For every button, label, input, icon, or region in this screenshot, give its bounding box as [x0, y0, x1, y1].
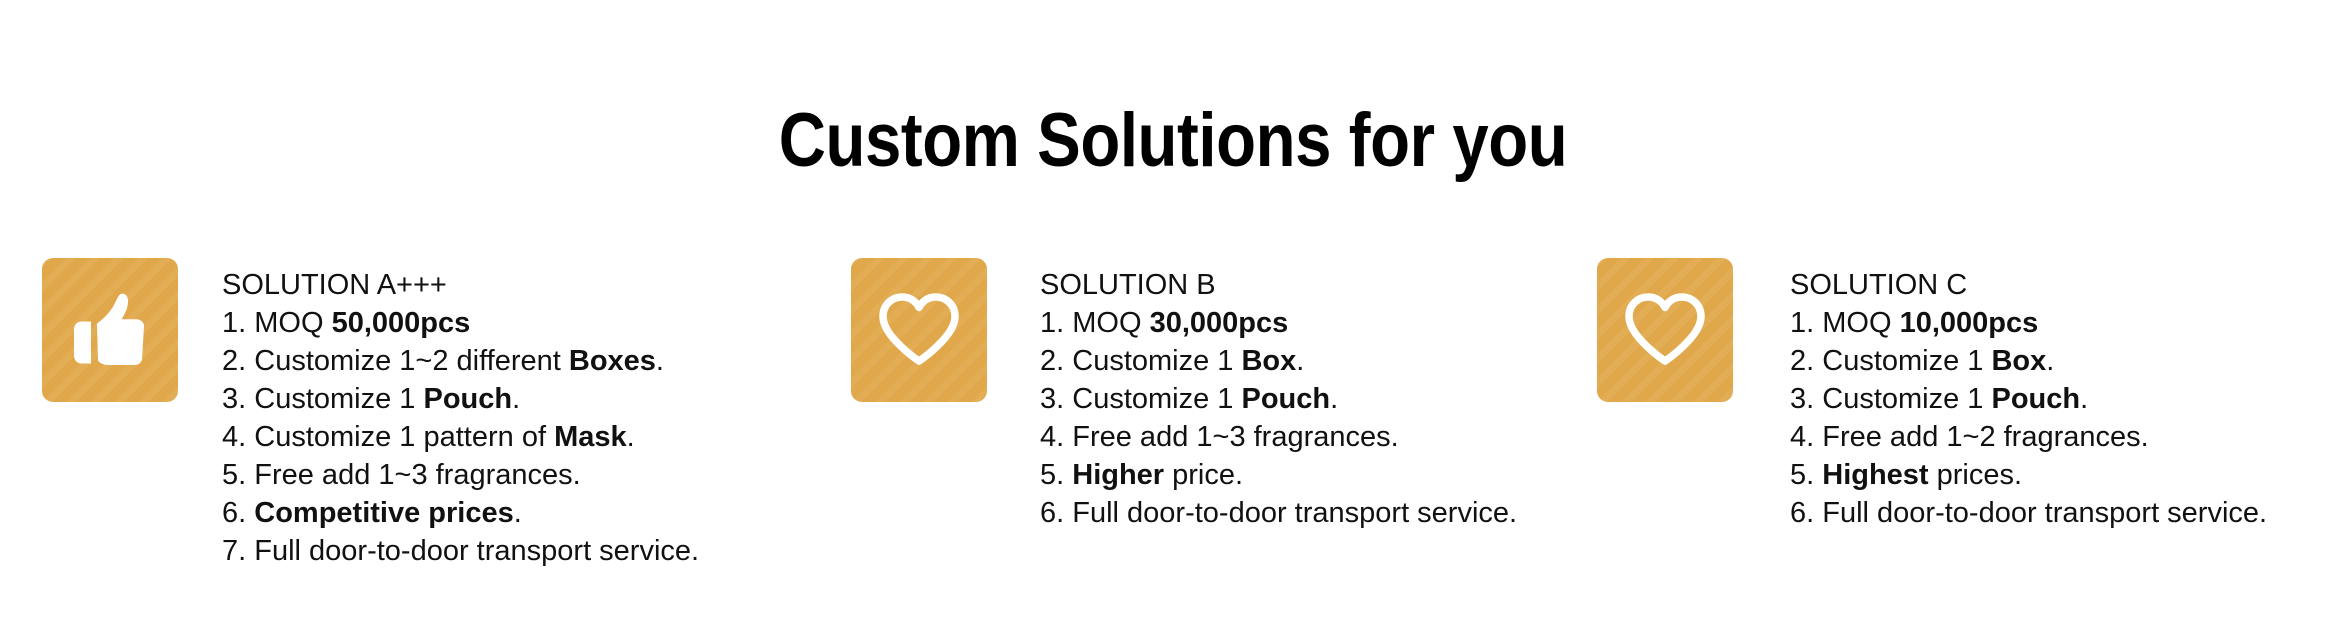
solution-b-heading: SOLUTION B: [1040, 266, 1591, 304]
solution-c-icon-tile: [1597, 258, 1733, 402]
list-item-text: Free add 1~2 fragrances.: [1822, 421, 2148, 453]
list-item-text: .: [2046, 345, 2054, 377]
solution-c-heading: SOLUTION C: [1790, 266, 2346, 304]
list-item-text: Customize 1: [1822, 383, 1991, 415]
solution-list-item: 4. Free add 1~2 fragrances.: [1790, 418, 2346, 456]
solution-b-icon-tile: [851, 258, 987, 402]
solution-list-item: 4. Customize 1 pattern of Mask.: [222, 418, 842, 456]
list-item-emphasis: 30,000pcs: [1150, 307, 1289, 339]
solution-a-list: 1. MOQ 50,000pcs2. Customize 1~2 differe…: [222, 304, 842, 570]
list-item-text: Free add 1~3 fragrances.: [254, 459, 580, 491]
solution-c-text: SOLUTION C 1. MOQ 10,000pcs2. Customize …: [1790, 266, 2346, 532]
list-item-number: 1.: [1790, 307, 1822, 339]
solution-card-c: SOLUTION C 1. MOQ 10,000pcs2. Customize …: [1597, 258, 2346, 532]
list-item-text: Customize 1: [1072, 345, 1241, 377]
list-item-emphasis: Box: [1991, 345, 2046, 377]
list-item-text: Full door-to-door transport service.: [254, 535, 699, 567]
list-item-text: .: [2080, 383, 2088, 415]
thumbs-up-icon: [71, 293, 149, 367]
list-item-text: Customize 1: [1822, 345, 1991, 377]
solution-a-text: SOLUTION A+++ 1. MOQ 50,000pcs2. Customi…: [222, 266, 842, 570]
solution-c-list: 1. MOQ 10,000pcs2. Customize 1 Box.3. Cu…: [1790, 304, 2346, 532]
list-item-number: 3.: [222, 383, 254, 415]
list-item-emphasis: 50,000pcs: [332, 307, 471, 339]
list-item-number: 1.: [1040, 307, 1072, 339]
solution-list-item: 1. MOQ 30,000pcs: [1040, 304, 1591, 342]
list-item-emphasis: Mask: [554, 421, 627, 453]
solution-card-b: SOLUTION B 1. MOQ 30,000pcs2. Customize …: [851, 258, 1591, 532]
solution-list-item: 6. Full door-to-door transport service.: [1790, 494, 2346, 532]
list-item-number: 5.: [222, 459, 254, 491]
solution-list-item: 2. Customize 1~2 different Boxes.: [222, 342, 842, 380]
list-item-text: Free add 1~3 fragrances.: [1072, 421, 1398, 453]
list-item-text: price.: [1164, 459, 1243, 491]
solution-list-item: 7. Full door-to-door transport service.: [222, 532, 842, 570]
list-item-text: Full door-to-door transport service.: [1072, 497, 1517, 529]
list-item-text: .: [514, 497, 522, 529]
list-item-emphasis: Pouch: [423, 383, 512, 415]
list-item-text: Customize 1 pattern of: [254, 421, 554, 453]
list-item-text: .: [656, 345, 664, 377]
solution-b-text: SOLUTION B 1. MOQ 30,000pcs2. Customize …: [1040, 266, 1591, 532]
list-item-text: Customize 1: [254, 383, 423, 415]
solution-list-item: 1. MOQ 50,000pcs: [222, 304, 842, 342]
list-item-text: .: [512, 383, 520, 415]
solution-list-item: 5. Highest prices.: [1790, 456, 2346, 494]
list-item-number: 4.: [1040, 421, 1072, 453]
list-item-text: .: [1296, 345, 1304, 377]
list-item-text: Customize 1: [1072, 383, 1241, 415]
solution-list-item: 4. Free add 1~3 fragrances.: [1040, 418, 1591, 456]
solution-a-icon-tile: [42, 258, 178, 402]
list-item-number: 5.: [1790, 459, 1822, 491]
list-item-number: 3.: [1040, 383, 1072, 415]
heart-outline-icon: [1622, 291, 1708, 369]
list-item-number: 2.: [1790, 345, 1822, 377]
list-item-text: .: [627, 421, 635, 453]
list-item-emphasis: Box: [1241, 345, 1296, 377]
list-item-emphasis: Pouch: [1241, 383, 1330, 415]
list-item-emphasis: Competitive prices: [254, 497, 513, 529]
solution-list-item: 1. MOQ 10,000pcs: [1790, 304, 2346, 342]
solution-list-item: 3. Customize 1 Pouch.: [1040, 380, 1591, 418]
solution-list-item: 6. Competitive prices.: [222, 494, 842, 532]
list-item-text: MOQ: [1822, 307, 1899, 339]
list-item-number: 2.: [1040, 345, 1072, 377]
solution-list-item: 2. Customize 1 Box.: [1790, 342, 2346, 380]
list-item-number: 3.: [1790, 383, 1822, 415]
solutions-row: SOLUTION A+++ 1. MOQ 50,000pcs2. Customi…: [0, 0, 2346, 625]
list-item-text: .: [1330, 383, 1338, 415]
heart-outline-icon: [876, 291, 962, 369]
page-root: Custom Solutions for you SOLUTION A+++ 1…: [0, 0, 2346, 625]
list-item-text: MOQ: [254, 307, 331, 339]
list-item-emphasis: 10,000pcs: [1900, 307, 2039, 339]
solution-b-list: 1. MOQ 30,000pcs2. Customize 1 Box.3. Cu…: [1040, 304, 1591, 532]
solution-list-item: 5. Higher price.: [1040, 456, 1591, 494]
list-item-text: Full door-to-door transport service.: [1822, 497, 2267, 529]
solution-list-item: 3. Customize 1 Pouch.: [1790, 380, 2346, 418]
list-item-number: 4.: [1790, 421, 1822, 453]
list-item-text: MOQ: [1072, 307, 1149, 339]
list-item-emphasis: Pouch: [1991, 383, 2080, 415]
list-item-number: 2.: [222, 345, 254, 377]
list-item-text: prices.: [1929, 459, 2022, 491]
solution-list-item: 3. Customize 1 Pouch.: [222, 380, 842, 418]
list-item-emphasis: Higher: [1072, 459, 1164, 491]
solution-list-item: 6. Full door-to-door transport service.: [1040, 494, 1591, 532]
list-item-emphasis: Boxes: [569, 345, 656, 377]
list-item-number: 7.: [222, 535, 254, 567]
solution-a-heading: SOLUTION A+++: [222, 266, 842, 304]
list-item-number: 6.: [1040, 497, 1072, 529]
list-item-number: 4.: [222, 421, 254, 453]
list-item-emphasis: Highest: [1822, 459, 1928, 491]
list-item-number: 5.: [1040, 459, 1072, 491]
list-item-text: Customize 1~2 different: [254, 345, 569, 377]
solution-list-item: 2. Customize 1 Box.: [1040, 342, 1591, 380]
list-item-number: 6.: [1790, 497, 1822, 529]
solution-list-item: 5. Free add 1~3 fragrances.: [222, 456, 842, 494]
list-item-number: 1.: [222, 307, 254, 339]
list-item-number: 6.: [222, 497, 254, 529]
solution-card-a: SOLUTION A+++ 1. MOQ 50,000pcs2. Customi…: [42, 258, 842, 570]
